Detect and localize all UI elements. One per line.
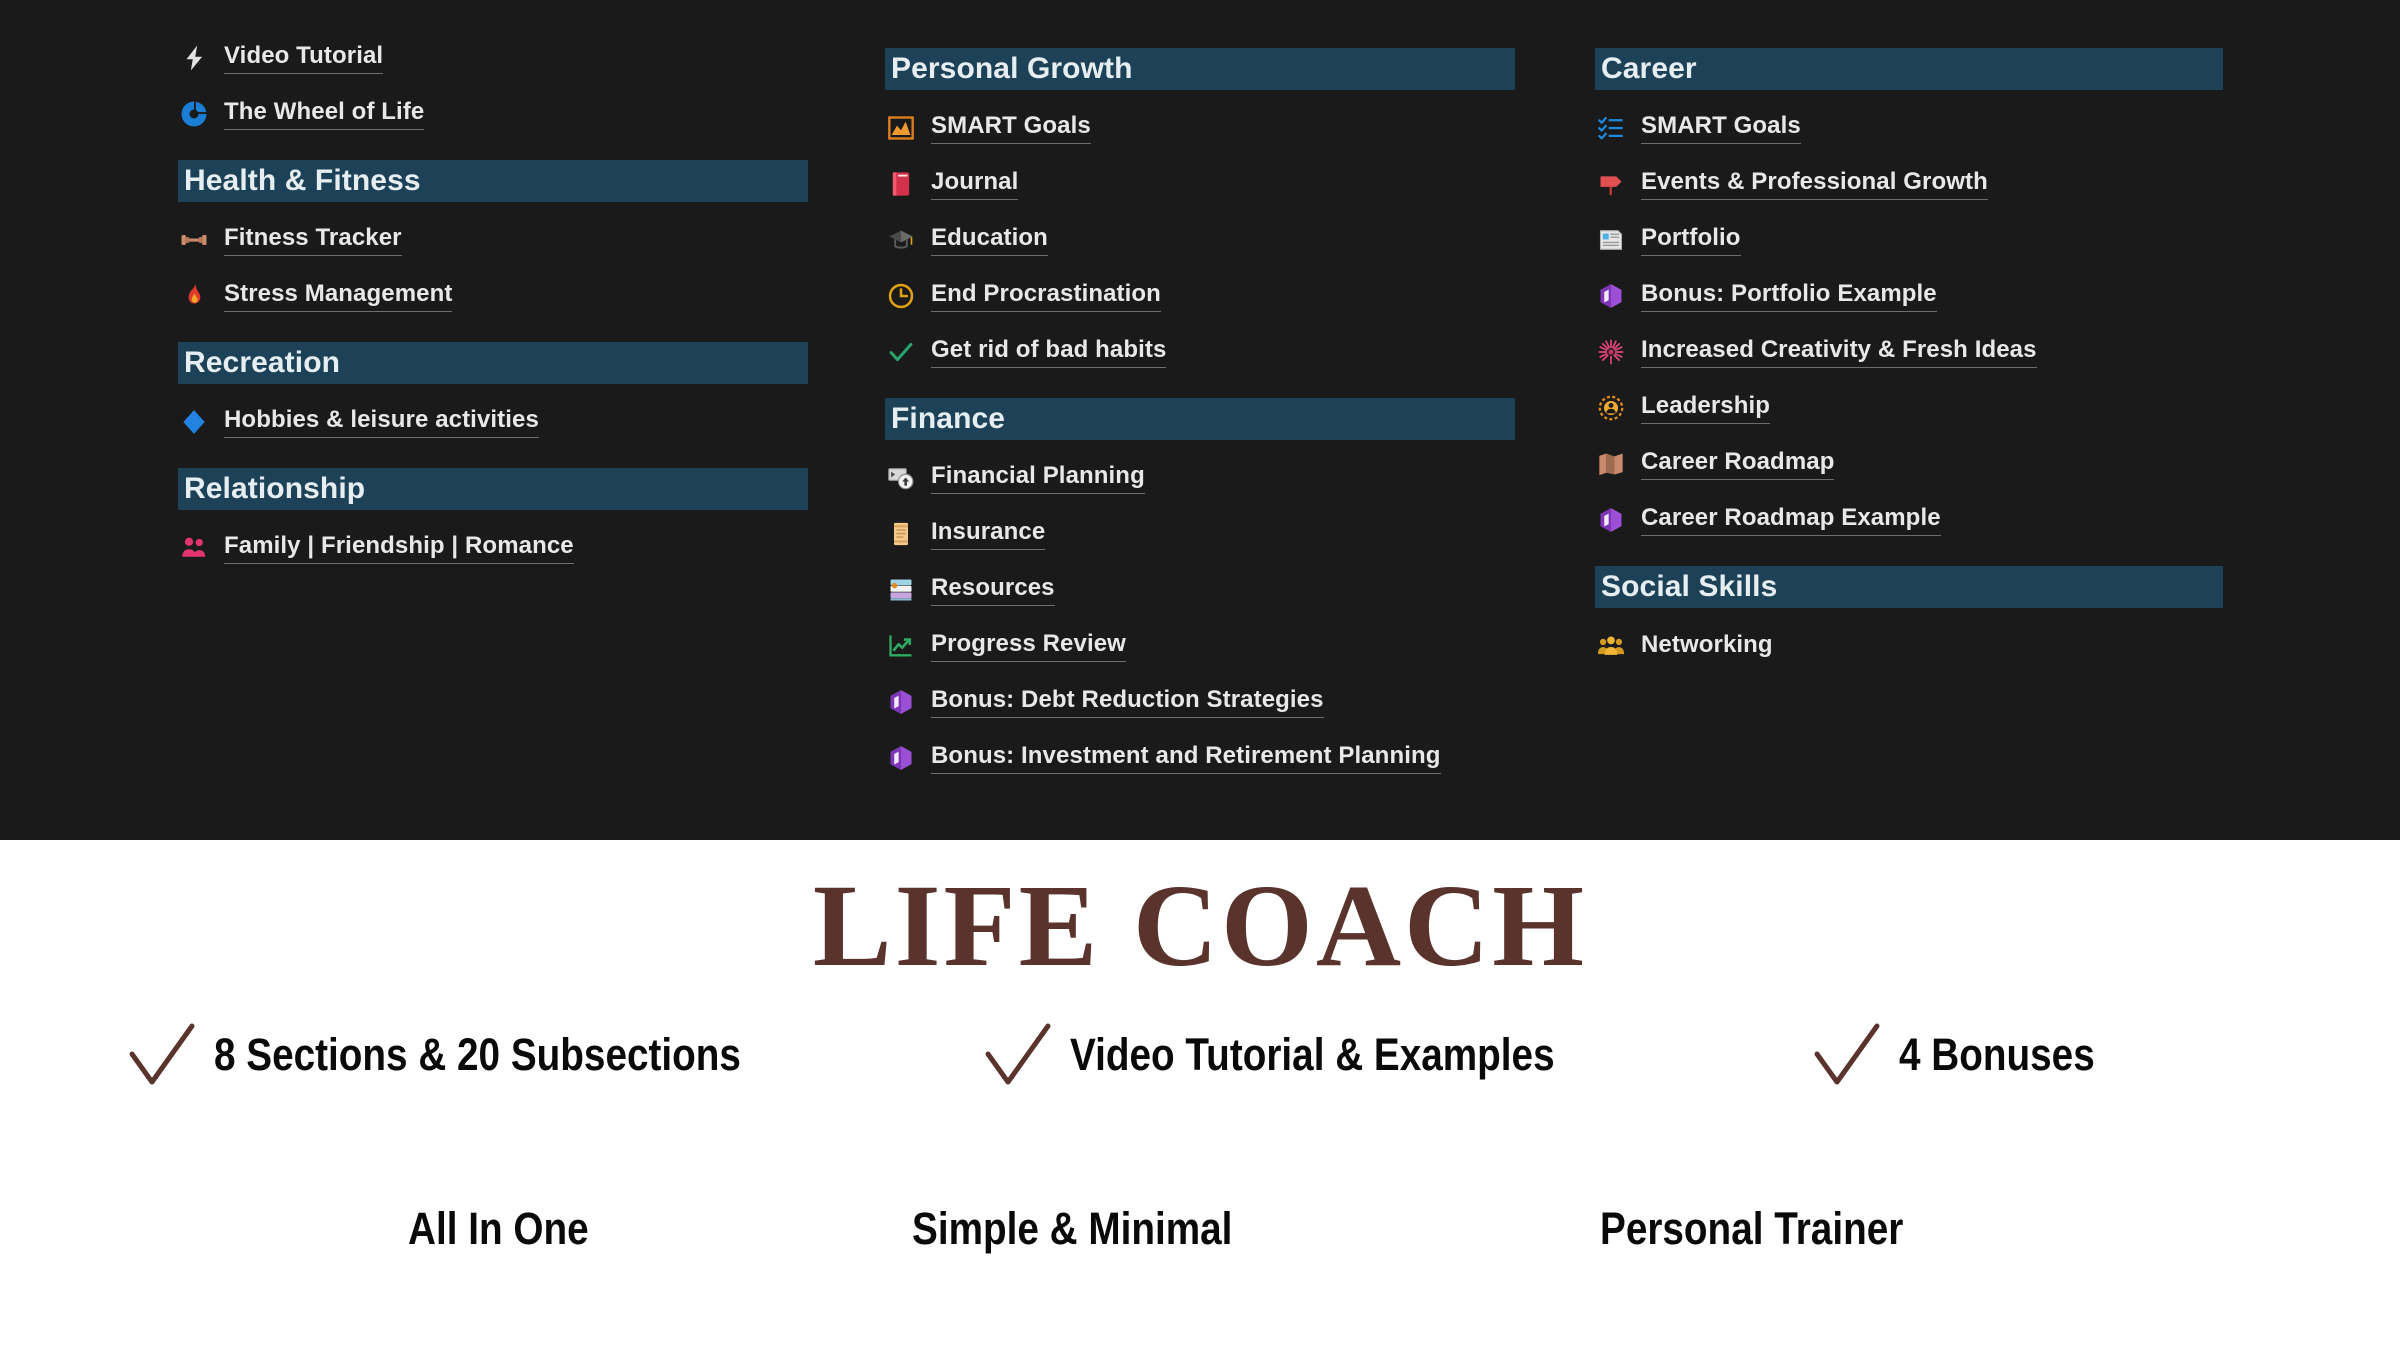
list-item[interactable]: Resources [885, 562, 1515, 618]
lightning-bolt-icon [178, 42, 210, 74]
graduation-cap-icon [885, 224, 917, 256]
list-item[interactable]: Fitness Tracker [178, 212, 808, 268]
list-item[interactable]: Events & Professional Growth [1595, 156, 2223, 212]
fire-icon [178, 280, 210, 312]
feature-item: 4 Bonuses [1811, 1020, 2127, 1090]
list-item-label: Career Roadmap [1641, 448, 1834, 480]
section-header-title: Relationship [184, 474, 365, 504]
list-item[interactable]: Get rid of bad habits [885, 324, 1515, 380]
list-item[interactable]: Stress Management [178, 268, 808, 324]
list-item-label: Hobbies & leisure activities [224, 406, 539, 438]
sparkler-icon [1595, 336, 1627, 368]
list-item-label: Stress Management [224, 280, 452, 312]
section-header-recreation: Recreation [178, 342, 808, 384]
purple-cube-icon [885, 742, 917, 774]
list-item[interactable]: Insurance [885, 506, 1515, 562]
purple-cube-icon [1595, 504, 1627, 536]
column-one: Video Tutorial The Wheel of Life Health … [178, 0, 808, 576]
list-item[interactable]: Leadership [1595, 380, 2223, 436]
purple-cube-icon [1595, 280, 1627, 312]
list-item[interactable]: Video Tutorial [178, 30, 808, 86]
list-item[interactable]: Bonus: Debt Reduction Strategies [885, 674, 1515, 730]
list-item[interactable]: Bonus: Portfolio Example [1595, 268, 2223, 324]
tagline-personal-trainer: Personal Trainer [1600, 1203, 1903, 1255]
tagline-all-in-one: All In One [408, 1203, 589, 1255]
map-icon [1595, 448, 1627, 480]
list-item[interactable]: Portfolio [1595, 212, 2223, 268]
section-header-social-skills: Social Skills [1595, 566, 2223, 608]
list-item[interactable]: Progress Review [885, 618, 1515, 674]
list-item-label: Portfolio [1641, 224, 1741, 256]
list-item[interactable]: Hobbies & leisure activities [178, 394, 808, 450]
checkmark-icon [126, 1020, 198, 1090]
list-item-label: Family | Friendship | Romance [224, 532, 574, 564]
section-header-title: Health & Fitness [184, 166, 421, 196]
list-item[interactable]: SMART Goals [1595, 100, 2223, 156]
list-item-label: Progress Review [931, 630, 1126, 662]
list-item-label: End Procrastination [931, 280, 1161, 312]
dark-link-panel: Video Tutorial The Wheel of Life Health … [0, 0, 2400, 840]
clock-icon [885, 280, 917, 312]
list-item-label: Bonus: Investment and Retirement Plannin… [931, 742, 1441, 774]
list-item-label: Journal [931, 168, 1018, 200]
feature-item: Video Tutorial & Examples [982, 1020, 1634, 1090]
list-item-label: Bonus: Portfolio Example [1641, 280, 1937, 312]
list-item-label: Insurance [931, 518, 1045, 550]
feature-label: 8 Sections & 20 Subsections [214, 1029, 741, 1081]
card-index-icon [885, 574, 917, 606]
section-header-finance: Finance [885, 398, 1515, 440]
section-header-title: Personal Growth [891, 54, 1133, 84]
column-three: Career SMART Goals [1595, 0, 2223, 674]
list-item-label: Networking [1641, 631, 1773, 662]
section-header-title: Recreation [184, 348, 340, 378]
list-item[interactable]: Financial Planning [885, 450, 1515, 506]
list-item-label: Get rid of bad habits [931, 336, 1166, 368]
blue-diamond-icon [178, 406, 210, 438]
list-item[interactable]: SMART Goals [885, 100, 1515, 156]
scroll-icon [885, 518, 917, 550]
purple-cube-icon [885, 686, 917, 718]
list-item-label: Career Roadmap Example [1641, 504, 1941, 536]
money-transfer-icon [885, 462, 917, 494]
feature-item: 8 Sections & 20 Subsections [126, 1020, 827, 1090]
feature-label: Video Tutorial & Examples [1070, 1029, 1555, 1081]
two-people-icon [178, 532, 210, 564]
section-header-health-fitness: Health & Fitness [178, 160, 808, 202]
promo-page: Video Tutorial The Wheel of Life Health … [0, 0, 2400, 1350]
page-title: LIFE COACH [0, 867, 2400, 985]
pie-chart-icon [178, 98, 210, 130]
dumbbell-icon [178, 224, 210, 256]
list-item[interactable]: The Wheel of Life [178, 86, 808, 142]
list-item-label: SMART Goals [1641, 112, 1801, 144]
group-people-icon [1595, 630, 1627, 662]
section-header-relationship: Relationship [178, 468, 808, 510]
list-item[interactable]: End Procrastination [885, 268, 1515, 324]
newspaper-icon [1595, 224, 1627, 256]
section-header-title: Finance [891, 404, 1005, 434]
feature-list: 8 Sections & 20 Subsections Video Tutori… [0, 1020, 2400, 1090]
red-notebook-icon [885, 168, 917, 200]
list-item[interactable]: Career Roadmap [1595, 436, 2223, 492]
section-header-title: Social Skills [1601, 572, 1777, 602]
section-header-career: Career [1595, 48, 2223, 90]
signpost-icon [1595, 168, 1627, 200]
light-promo-panel: LIFE COACH 8 Sections & 20 Subsections V… [0, 840, 2400, 1350]
green-check-icon [885, 336, 917, 368]
list-item-label: Education [931, 224, 1048, 256]
tagline-simple-minimal: Simple & Minimal [912, 1203, 1232, 1255]
list-item-label: Resources [931, 574, 1055, 606]
list-item[interactable]: Education [885, 212, 1515, 268]
list-item-label: Fitness Tracker [224, 224, 402, 256]
list-item-label: SMART Goals [931, 112, 1091, 144]
list-item[interactable]: Increased Creativity & Fresh Ideas [1595, 324, 2223, 380]
medal-circle-icon [1595, 392, 1627, 424]
list-item-label: Leadership [1641, 392, 1770, 424]
list-item-label: Bonus: Debt Reduction Strategies [931, 686, 1324, 718]
list-item[interactable]: Bonus: Investment and Retirement Plannin… [885, 730, 1515, 786]
list-item-label: Financial Planning [931, 462, 1145, 494]
list-item-label: The Wheel of Life [224, 98, 424, 130]
list-item[interactable]: Networking [1595, 618, 2223, 674]
trend-up-chart-icon [885, 630, 917, 662]
list-item[interactable]: Journal [885, 156, 1515, 212]
bar-chart-icon [885, 112, 917, 144]
checkmark-icon [1811, 1020, 1883, 1090]
feature-label: 4 Bonuses [1899, 1029, 2095, 1081]
section-header-title: Career [1601, 54, 1697, 84]
list-item-label: Video Tutorial [224, 42, 383, 74]
list-item-label: Increased Creativity & Fresh Ideas [1641, 336, 2037, 368]
checklist-icon [1595, 112, 1627, 144]
list-item[interactable]: Career Roadmap Example [1595, 492, 2223, 548]
tagline-row: All In One Simple & Minimal Personal Tra… [0, 1203, 2400, 1263]
checkmark-icon [982, 1020, 1054, 1090]
section-header-personal-growth: Personal Growth [885, 48, 1515, 90]
column-two: Personal Growth SMART Goals [885, 0, 1515, 786]
list-item[interactable]: Family | Friendship | Romance [178, 520, 808, 576]
list-item-label: Events & Professional Growth [1641, 168, 1988, 200]
